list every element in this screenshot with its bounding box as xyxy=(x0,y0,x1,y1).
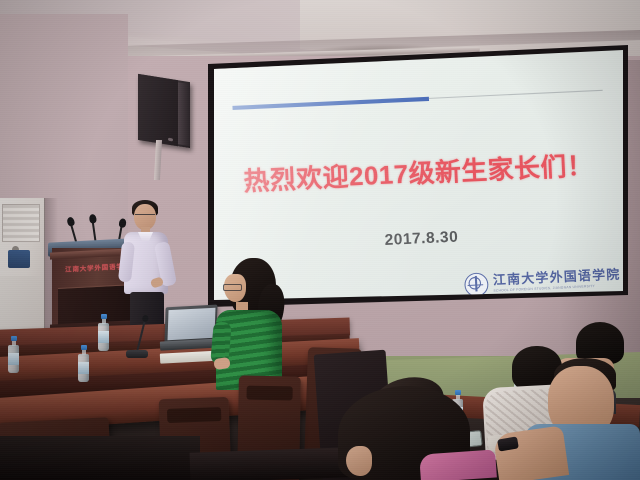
bottle-label xyxy=(98,331,109,343)
audience-woman-pink-top xyxy=(419,449,497,480)
slide-date: 2017.8.30 xyxy=(214,220,623,257)
audience-woman-ear xyxy=(346,446,372,476)
presenter-glasses-icon xyxy=(135,214,155,219)
bottle-label xyxy=(78,362,89,374)
laptop-screen xyxy=(167,307,215,340)
slide-accent-rule xyxy=(232,87,602,111)
foreground-silhouette-left xyxy=(0,436,200,480)
lecture-hall-photo: 热烈欢迎2017级新生家长们！ 2017.8.30 江南大学外国语学院 SCHO… xyxy=(0,0,640,480)
chair-back-slot xyxy=(167,407,221,423)
ac-vent-grille xyxy=(2,204,40,242)
laptop xyxy=(164,305,217,344)
woman-glasses-icon xyxy=(223,284,242,291)
slide-headline: 热烈欢迎2017级新生家长们！ xyxy=(214,144,623,201)
slide-thin-rule xyxy=(429,90,603,99)
bottle-label xyxy=(8,353,19,365)
slide-accent-bar xyxy=(232,97,429,110)
foreground-silhouette-middle xyxy=(190,447,351,480)
speaker-led-icon xyxy=(168,138,173,142)
audience-man-arm xyxy=(493,425,569,480)
speaker-grille xyxy=(138,74,178,146)
chair-back-slot xyxy=(246,386,292,401)
emblem-inner-ring-icon xyxy=(468,277,481,290)
ac-display-panel xyxy=(8,250,30,268)
speaker-side-panel xyxy=(178,82,190,146)
university-logo-text: 江南大学外国语学院 SCHOOL OF FOREIGN STUDIES, JIA… xyxy=(493,269,621,294)
seated-woman-green-shirt xyxy=(212,258,298,390)
wall-speaker-icon xyxy=(138,74,190,148)
university-emblem-icon xyxy=(464,272,489,297)
table-microphone-base xyxy=(126,350,148,358)
